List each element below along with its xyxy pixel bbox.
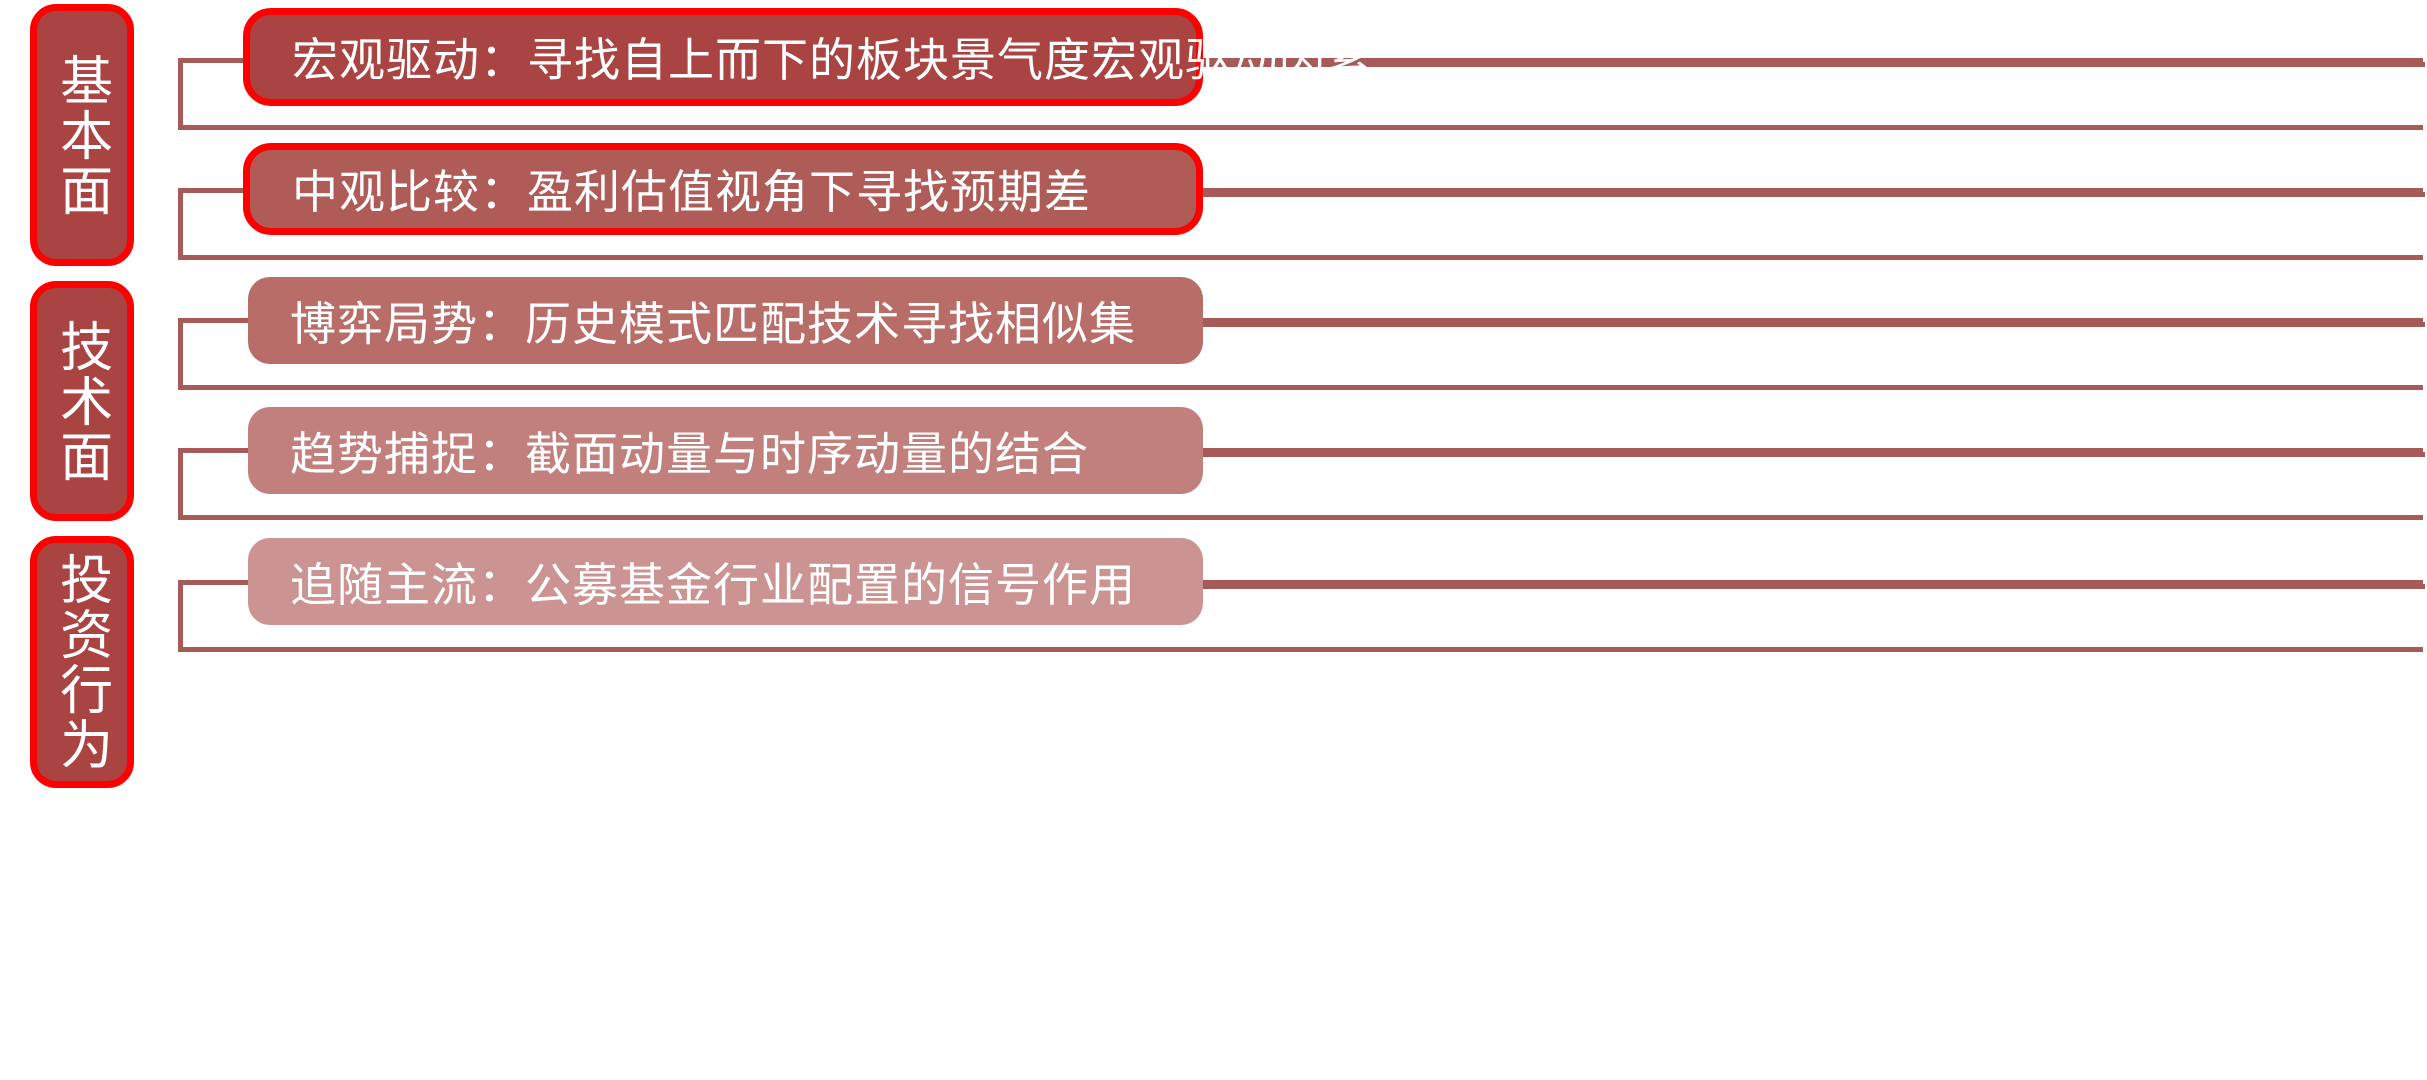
- row-pill-macro-driver[interactable]: 宏观驱动：寻找自上而下的板块景气度宏观驱动因素: [243, 8, 1203, 106]
- connector-stub-row-4-right: [1203, 452, 2425, 457]
- row-pill-label: 中观比较：盈利估值视角下寻找预期差: [292, 156, 1091, 222]
- connector-stub-row-5-right: [1203, 584, 2425, 589]
- group-label-text: 投资行为: [53, 552, 110, 772]
- row-pill-trend-capture[interactable]: 趋势捕捉：截面动量与时序动量的结合: [248, 407, 1203, 494]
- diagram-canvas: 基本面 技术面 投资行为 宏观驱动：寻找自上而下的板块景气度宏观驱动因素 中观比…: [0, 0, 2427, 1080]
- connector-stub-row-3-right: [1203, 322, 2425, 327]
- connector-stub-row-2-right: [1203, 192, 2425, 197]
- group-label-fundamental[interactable]: 基本面: [30, 4, 134, 266]
- row-pill-meso-comparison[interactable]: 中观比较：盈利估值视角下寻找预期差: [243, 143, 1203, 235]
- row-pill-label: 宏观驱动：寻找自上而下的板块景气度宏观驱动因素: [292, 24, 1373, 90]
- group-label-text: 技术面: [53, 319, 110, 484]
- group-label-behavior[interactable]: 投资行为: [30, 536, 134, 788]
- row-pill-label: 追随主流：公募基金行业配置的信号作用: [290, 549, 1136, 615]
- row-pill-game-situation[interactable]: 博弈局势：历史模式匹配技术寻找相似集: [248, 277, 1203, 364]
- row-pill-label: 趋势捕捉：截面动量与时序动量的结合: [290, 418, 1089, 484]
- group-label-text: 基本面: [53, 53, 110, 218]
- group-label-technical[interactable]: 技术面: [30, 281, 134, 521]
- connector-stub-row-1-right: [1203, 62, 2425, 67]
- row-pill-label: 博弈局势：历史模式匹配技术寻找相似集: [290, 288, 1136, 354]
- row-pill-follow-mainstream[interactable]: 追随主流：公募基金行业配置的信号作用: [248, 538, 1203, 625]
